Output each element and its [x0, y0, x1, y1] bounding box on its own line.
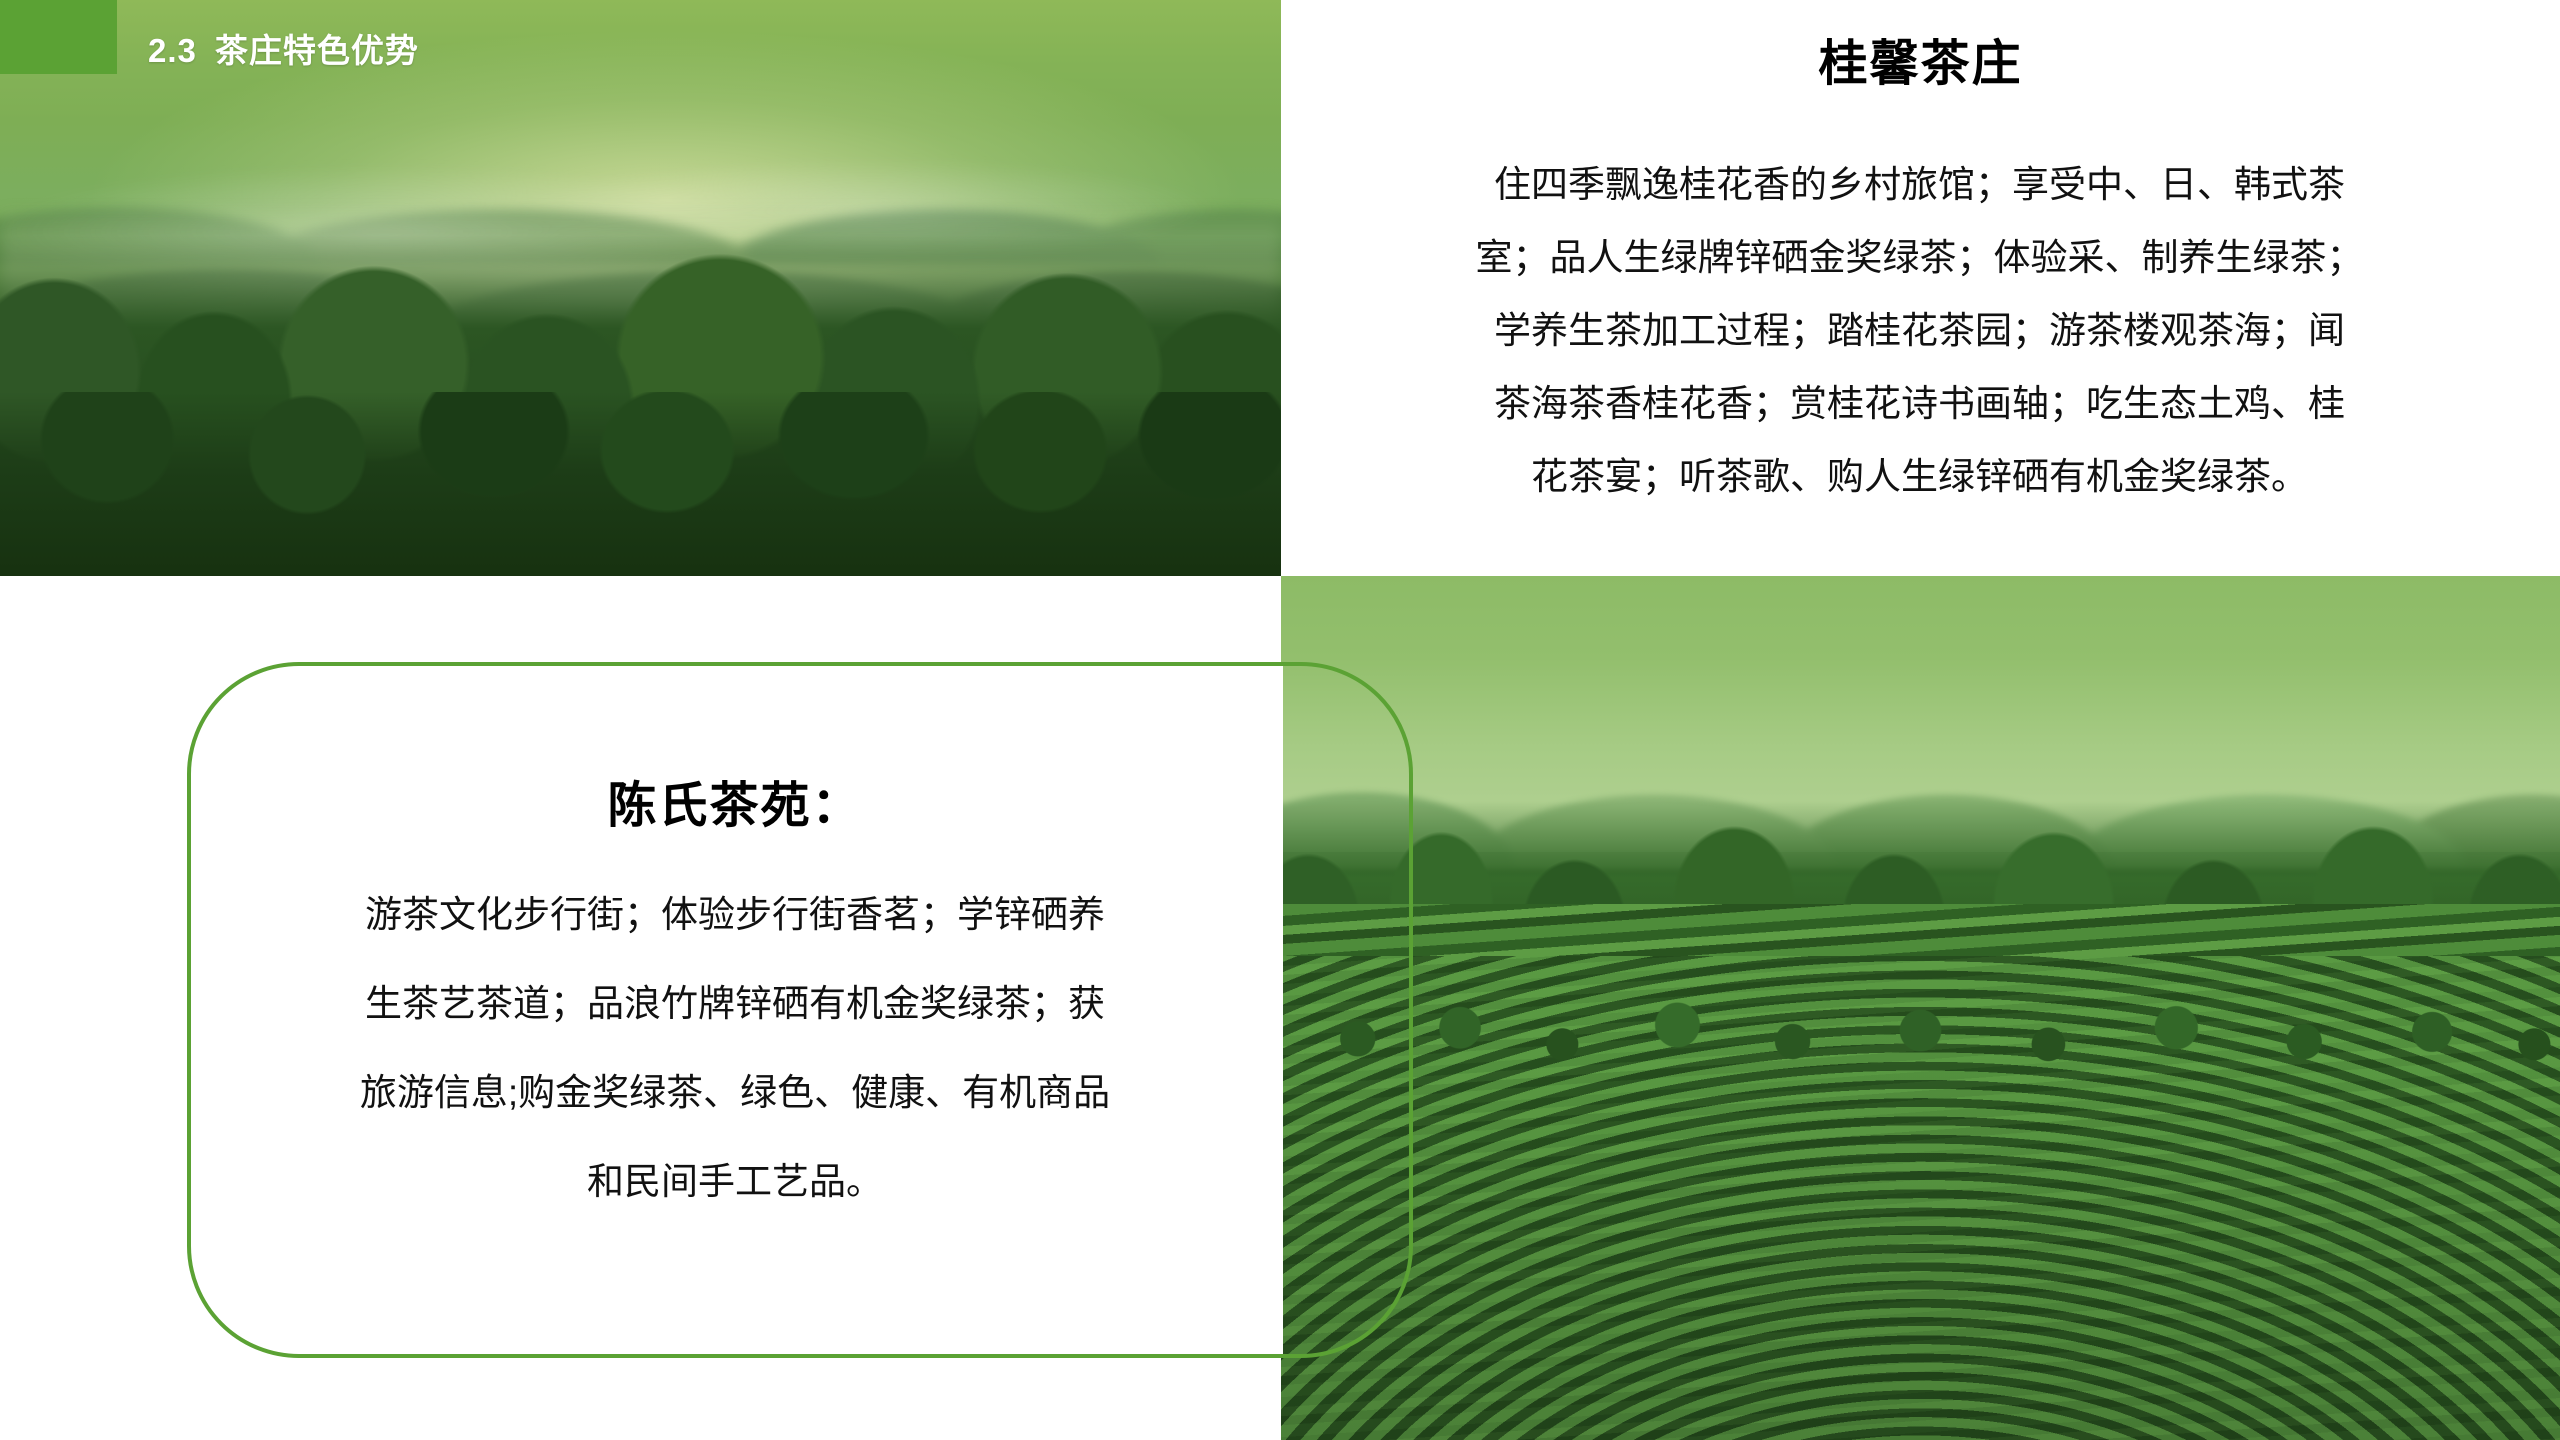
guixin-line: 学养生茶加工过程；踏桂花茶园；游茶楼观茶海；闻 — [1305, 294, 2534, 367]
chenshi-heading: 陈氏茶苑： — [187, 766, 1283, 837]
guixin-line: 茶海茶香桂花香；赏桂花诗书画轴；吃生态土鸡、桂 — [1305, 367, 2534, 440]
tea-plantation-photo — [1281, 576, 2560, 1440]
chenshi-line: 和民间手工艺品。 — [197, 1137, 1273, 1226]
chenshi-card-content: 陈氏茶苑： 游茶文化步行街；体验步行街香茗；学锌硒养 生茶艺茶道；品浪竹牌锌硒有… — [187, 662, 1283, 1358]
slide-canvas: 2.3茶庄特色优势 桂馨茶庄 住四季飘逸桂花香的乡村旅馆；享受中、日、韩式茶 室… — [0, 0, 2560, 1440]
chenshi-body-text: 游茶文化步行街；体验步行街香茗；学锌硒养 生茶艺茶道；品浪竹牌锌硒有机金奖绿茶；… — [197, 870, 1273, 1226]
guixin-body-text: 住四季飘逸桂花香的乡村旅馆；享受中、日、韩式茶 室；品人生绿牌锌硒金奖绿茶；体验… — [1305, 148, 2534, 513]
guixin-line: 花茶宴；听茶歌、购人生绿锌硒有机金奖绿茶。 — [1305, 440, 2534, 513]
section-title-text: 茶庄特色优势 — [215, 32, 419, 69]
misty-forest-photo — [0, 0, 1281, 576]
terrace-shadow-overlay — [1281, 576, 2560, 1440]
section-accent-block — [0, 0, 117, 74]
section-number: 2.3 — [148, 32, 197, 69]
page-title: 2.3茶庄特色优势 — [148, 24, 419, 72]
guixin-heading: 桂馨茶庄 — [1281, 24, 2560, 95]
chenshi-line: 生茶艺茶道；品浪竹牌锌硒有机金奖绿茶；获 — [197, 959, 1273, 1048]
guixin-line: 住四季飘逸桂花香的乡村旅馆；享受中、日、韩式茶 — [1305, 148, 2534, 221]
chenshi-line: 游茶文化步行街；体验步行街香茗；学锌硒养 — [197, 870, 1273, 959]
forest-foreground-trees — [0, 392, 1281, 576]
chenshi-line: 旅游信息;购金奖绿茶、绿色、健康、有机商品 — [197, 1048, 1273, 1137]
guixin-tea-manor-panel: 桂馨茶庄 住四季飘逸桂花香的乡村旅馆；享受中、日、韩式茶 室；品人生绿牌锌硒金奖… — [1281, 0, 2560, 576]
guixin-line: 室；品人生绿牌锌硒金奖绿茶；体验采、制养生绿茶； — [1305, 221, 2534, 294]
